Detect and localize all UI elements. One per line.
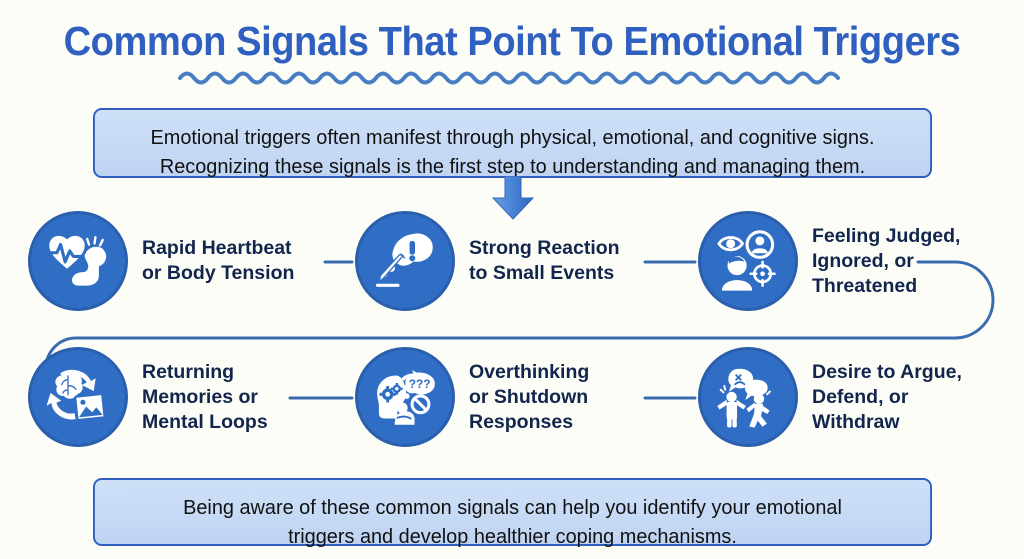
outro-line-2: triggers and develop healthier coping me… (95, 522, 930, 551)
label-line: Overthinking (469, 360, 589, 385)
node-label-returning-memories: Returning Memories or Mental Loops (142, 360, 268, 435)
label-line: to Small Events (469, 261, 620, 286)
two-people-arguing-walking-away-icon (698, 347, 798, 447)
title-wave-underline (178, 66, 850, 86)
label-line: or Body Tension (142, 261, 294, 286)
label-line: Defend, or (812, 385, 962, 410)
node-overthinking-shutdown[interactable]: ??? Overthinking or Shutdown Responses (355, 347, 589, 447)
label-line: Threatened (812, 274, 960, 299)
node-strong-reaction[interactable]: Strong Reaction to Small Events (355, 211, 620, 311)
label-line: or Shutdown (469, 385, 589, 410)
node-returning-memories[interactable]: Returning Memories or Mental Loops (28, 347, 268, 447)
node-rapid-heartbeat[interactable]: Rapid Heartbeat or Body Tension (28, 211, 294, 311)
svg-text:???: ??? (409, 377, 431, 391)
outro-line-1: Being aware of these common signals can … (95, 493, 930, 522)
node-desire-to-argue[interactable]: Desire to Argue, Defend, or Withdraw (698, 347, 962, 447)
eye-person-target-icon (698, 211, 798, 311)
heart-pulse-flexed-arm-icon (28, 211, 128, 311)
node-label-desire-to-argue: Desire to Argue, Defend, or Withdraw (812, 360, 962, 435)
label-line: Ignored, or (812, 249, 960, 274)
label-line: Desire to Argue, (812, 360, 962, 385)
pen-thought-bubble-exclamation-icon (355, 211, 455, 311)
infographic-canvas: Common Signals That Point To Emotional T… (0, 0, 1024, 559)
node-label-rapid-heartbeat: Rapid Heartbeat or Body Tension (142, 236, 294, 286)
label-line: Memories or (142, 385, 268, 410)
node-label-feeling-judged: Feeling Judged, Ignored, or Threatened (812, 224, 960, 299)
label-line: Returning (142, 360, 268, 385)
brain-loop-photo-icon (28, 347, 128, 447)
label-line: Feeling Judged, (812, 224, 960, 249)
label-line: Responses (469, 410, 589, 435)
intro-line-1: Emotional triggers often manifest throug… (95, 123, 930, 152)
node-feeling-judged[interactable]: Feeling Judged, Ignored, or Threatened (698, 211, 960, 311)
node-label-overthinking-shutdown: Overthinking or Shutdown Responses (469, 360, 589, 435)
node-label-strong-reaction: Strong Reaction to Small Events (469, 236, 620, 286)
intro-callout: Emotional triggers often manifest throug… (93, 108, 932, 178)
label-line: Rapid Heartbeat (142, 236, 294, 261)
head-gears-question-bubble-icon: ??? (355, 347, 455, 447)
outro-callout: Being aware of these common signals can … (93, 478, 932, 546)
label-line: Mental Loops (142, 410, 268, 435)
label-line: Strong Reaction (469, 236, 620, 261)
label-line: Withdraw (812, 410, 962, 435)
page-title: Common Signals That Point To Emotional T… (36, 18, 988, 65)
